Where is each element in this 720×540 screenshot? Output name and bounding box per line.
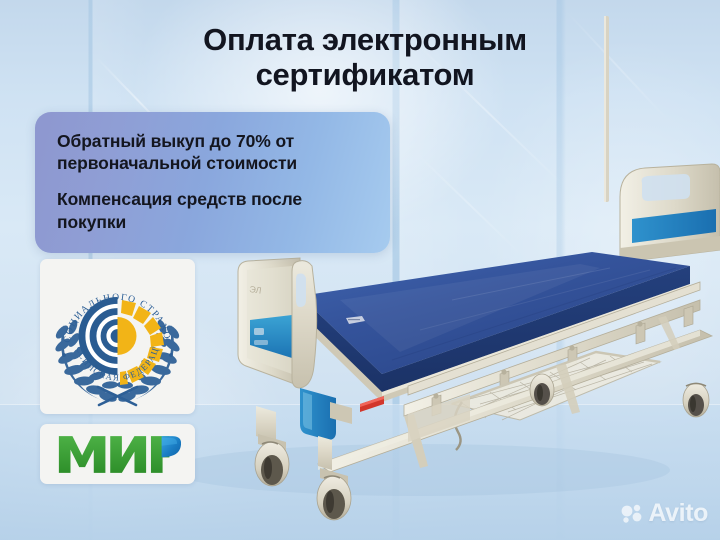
page-title-line-2: сертификатом	[120, 57, 610, 92]
fss-logo-card: ФОНД СОЦИАЛЬНОГО СТРАХОВАНИЯ РОССИЙСКАЯ …	[40, 259, 195, 414]
avito-wordmark: Avito	[648, 499, 708, 528]
fss-emblem-icon: ФОНД СОЦИАЛЬНОГО СТРАХОВАНИЯ РОССИЙСКАЯ …	[40, 259, 195, 414]
benefit-item-compensation: Компенсация средств после покупки	[57, 188, 368, 232]
mir-logo-card	[40, 424, 195, 484]
avito-watermark: Avito	[621, 499, 708, 528]
promo-image: ЭЛ	[0, 0, 720, 540]
page-title-line-1: Оплата электронным	[120, 22, 610, 57]
mir-logo-icon	[55, 432, 181, 477]
avito-dots-icon	[621, 504, 643, 524]
benefit-item-buyback: Обратный выкуп до 70% от первоначальной …	[57, 130, 368, 174]
page-title: Оплата электронным сертификатом	[120, 22, 610, 92]
benefits-card: Обратный выкуп до 70% от первоначальной …	[35, 112, 390, 253]
